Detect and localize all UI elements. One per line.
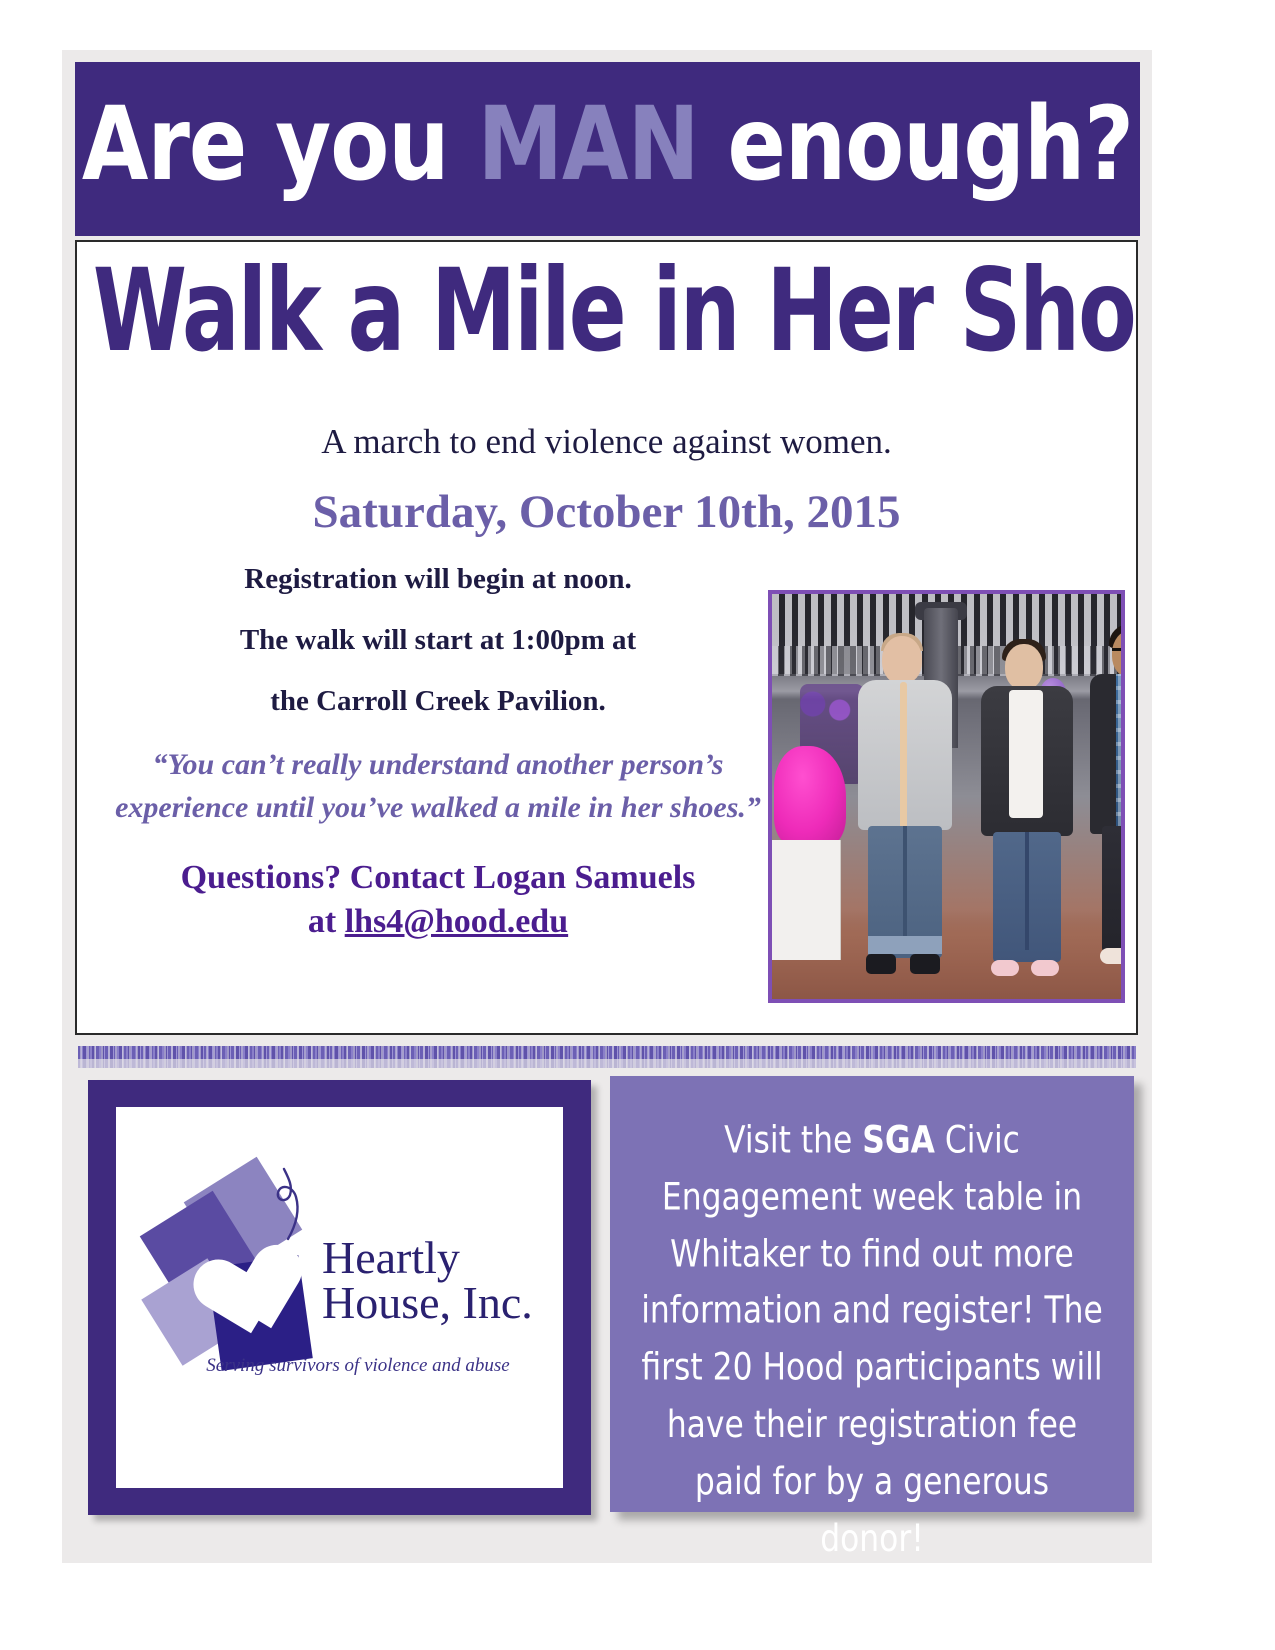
event-title: Walk a Mile in Her Shoes <box>93 254 1120 368</box>
person-right-shoe-left <box>1100 948 1125 964</box>
person-right-jacket-left <box>1090 674 1116 834</box>
person-left-shoe-right <box>910 954 940 974</box>
main-content-card: Walk a Mile in Her Shoes A march to end … <box>75 240 1138 1035</box>
person-left-shoe-left <box>866 954 896 974</box>
sga-text-part2: Civic Engagement week table in Whitaker … <box>641 1118 1103 1560</box>
logo-frame: Heartly House, Inc. Serving survivors of… <box>116 1107 563 1488</box>
pink-tutu-prop <box>774 746 846 848</box>
white-table-prop <box>772 840 841 960</box>
logo-tagline: Serving survivors of violence and abuse <box>158 1355 558 1377</box>
contact-block: Questions? Contact Logan Samuels at lhs4… <box>93 856 783 946</box>
event-photo <box>768 590 1125 1003</box>
headline-after: enough? <box>699 86 1133 204</box>
detail-start-time: The walk will start at 1:00pm at <box>93 623 783 658</box>
detail-registration: Registration will begin at noon. <box>93 562 783 597</box>
flyer-page: Are you MAN enough? Walk a Mile in Her S… <box>0 0 1275 1650</box>
person-right-glasses <box>1112 648 1125 659</box>
person-center-leg-split <box>1025 832 1029 950</box>
person-right-pants <box>1102 826 1125 952</box>
headline-text: Are you MAN enough? <box>75 82 1140 209</box>
headline-before: Are you <box>82 86 478 204</box>
logo-wordmark: Heartly House, Inc. <box>322 1235 572 1325</box>
person-center-head <box>1005 644 1043 690</box>
photo-scene <box>772 594 1121 999</box>
sga-text-part1: Visit the <box>724 1118 862 1162</box>
pull-quote: “You can’t really understand another per… <box>103 744 773 829</box>
headline-banner: Are you MAN enough? <box>75 62 1140 236</box>
person-left-head <box>882 636 922 684</box>
photo-person-left <box>852 636 958 981</box>
photo-person-right <box>1090 630 1125 982</box>
event-details-column: Registration will begin at noon. The wal… <box>93 562 783 945</box>
sga-acronym: SGA <box>862 1118 935 1162</box>
sponsor-logo-panel: Heartly House, Inc. Serving survivors of… <box>88 1080 591 1515</box>
logo-word-house-inc: House, Inc. <box>322 1280 572 1325</box>
torn-purple-divider <box>78 1046 1136 1068</box>
headline-man-word: MAN <box>477 86 698 204</box>
sga-info-text: Visit the SGA Civic Engagement week tabl… <box>640 1112 1104 1567</box>
person-left-leg-split <box>903 826 907 946</box>
person-center-shoe-right <box>1031 960 1059 976</box>
logo-chimney-flourish-icon <box>266 1167 306 1241</box>
person-center-shirt-front <box>1009 690 1043 818</box>
logo-canvas: Heartly House, Inc. Serving survivors of… <box>126 1117 553 1478</box>
detail-location: the Carroll Creek Pavilion. <box>93 684 783 719</box>
sga-info-panel: Visit the SGA Civic Engagement week tabl… <box>610 1076 1134 1512</box>
person-left-jean-cuff <box>868 936 942 954</box>
contact-lead: Questions? Contact Logan Samuels <box>181 859 696 896</box>
logo-word-heartly: Heartly <box>322 1235 572 1280</box>
contact-at: at <box>308 903 345 940</box>
heartly-house-logo-icon <box>148 1165 328 1380</box>
event-date: Saturday, October 10th, 2015 <box>77 485 1136 539</box>
event-subtitle: A march to end violence against women. <box>77 422 1136 462</box>
photo-person-center <box>977 644 1077 984</box>
person-center-shoe-left <box>991 960 1019 976</box>
contact-email-link[interactable]: lhs4@hood.edu <box>345 903 568 940</box>
